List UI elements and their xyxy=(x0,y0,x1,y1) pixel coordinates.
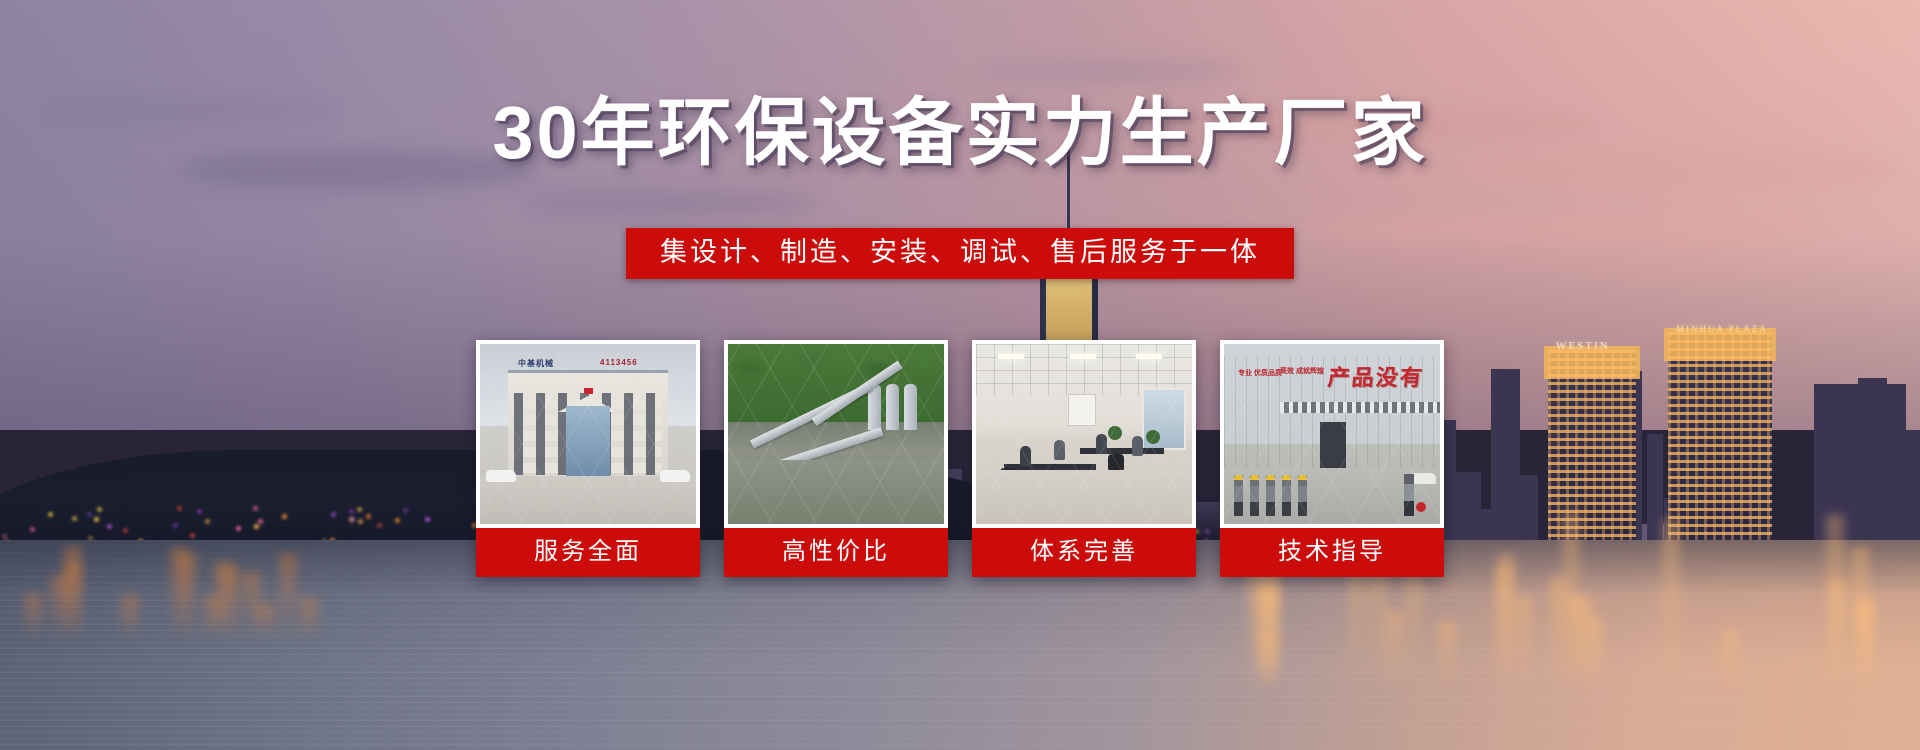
feature-card[interactable]: 体系完善 xyxy=(972,340,1196,577)
card-caption: 高性价比 xyxy=(724,528,948,577)
worker xyxy=(1298,476,1307,516)
water-reflection xyxy=(1515,596,1533,690)
wall-small-text-right: 高效 成就辉煌 xyxy=(1280,368,1324,377)
silo xyxy=(904,384,917,430)
feature-card[interactable]: 高性价比 xyxy=(724,340,948,577)
card-caption: 技术指导 xyxy=(1220,528,1444,577)
office-floor xyxy=(976,470,1192,524)
water-reflection xyxy=(1385,610,1403,690)
worker xyxy=(1282,476,1291,516)
person xyxy=(1020,446,1031,466)
water-reflection xyxy=(1262,570,1280,690)
person xyxy=(1054,440,1065,460)
cloud xyxy=(520,190,820,216)
ceiling-lamp xyxy=(1070,354,1096,359)
water-reflection xyxy=(24,594,42,640)
wall-small-text-left: 专业 优质品质 xyxy=(1238,370,1282,379)
wall-poster xyxy=(1068,394,1096,426)
red-bag xyxy=(1416,502,1426,512)
water-reflection xyxy=(222,566,240,640)
silo xyxy=(886,384,899,430)
hero-banner: WESTIN MINHUA PLAZA 30年环保设备实力生产厂家 集设计、制造… xyxy=(0,0,1920,750)
helmet-icon xyxy=(1266,475,1275,480)
company-sign-text: 中基机械 xyxy=(518,358,554,369)
worker xyxy=(1250,476,1259,516)
water-reflection xyxy=(1856,602,1874,690)
helmet-icon xyxy=(1234,475,1243,480)
subtitle-bar: 集设计、制造、安装、调试、售后服务于一体 xyxy=(626,228,1294,279)
ceiling-lamp xyxy=(1136,354,1162,359)
helmet-icon xyxy=(1282,475,1291,480)
factory-eave xyxy=(1280,402,1440,413)
plaza-sign: MINHUA PLAZA xyxy=(1676,324,1768,334)
subtitle-wrap: 集设计、制造、安装、调试、售后服务于一体 xyxy=(0,228,1920,279)
plant-yard xyxy=(728,460,944,524)
worker xyxy=(1266,476,1275,516)
building-entrance xyxy=(566,406,610,478)
helmet-icon xyxy=(1250,475,1259,480)
page-title: 30年环保设备实力生产厂家 xyxy=(0,96,1920,170)
flag-icon xyxy=(584,388,593,394)
worker xyxy=(1234,476,1243,516)
office-interior-photo xyxy=(976,344,1192,524)
water-reflection xyxy=(1829,580,1847,690)
water-reflection xyxy=(1587,618,1605,690)
aerial-plant-photo xyxy=(728,344,944,524)
person xyxy=(1132,436,1143,456)
water-reflection xyxy=(1549,577,1567,690)
card-caption: 体系完善 xyxy=(972,528,1196,577)
ceiling-lamp xyxy=(998,354,1024,359)
cloud xyxy=(980,60,1240,82)
desk xyxy=(1080,448,1164,454)
feature-card[interactable]: 中基机械 4113456 服务全面 xyxy=(476,340,700,577)
water-reflection xyxy=(1721,629,1739,690)
person xyxy=(1096,434,1107,454)
feature-card[interactable]: 产品没有 专业 优质品质 高效 成就辉煌 xyxy=(1220,340,1444,577)
water-reflection xyxy=(1438,621,1456,690)
card-caption: 服务全面 xyxy=(476,528,700,577)
helmet-icon xyxy=(1298,475,1307,480)
office-building-photo: 中基机械 4113456 xyxy=(480,344,696,524)
potted-plant xyxy=(1146,430,1160,444)
car xyxy=(660,470,690,482)
forecourt xyxy=(480,476,696,524)
company-phone-text: 4113456 xyxy=(600,358,638,367)
car xyxy=(486,470,516,482)
water-reflection xyxy=(243,572,261,640)
factory-workers-photo: 产品没有 专业 优质品质 高效 成就辉煌 xyxy=(1224,344,1440,524)
supervisor xyxy=(1404,474,1414,516)
potted-plant xyxy=(1108,426,1122,440)
water-reflection xyxy=(204,596,222,640)
feature-card-list: 中基机械 4113456 服务全面 xyxy=(0,340,1920,577)
water-reflection xyxy=(121,595,139,640)
wall-slogan-text: 产品没有 xyxy=(1326,360,1425,392)
water-reflection xyxy=(300,598,318,640)
factory-door xyxy=(1320,422,1346,474)
